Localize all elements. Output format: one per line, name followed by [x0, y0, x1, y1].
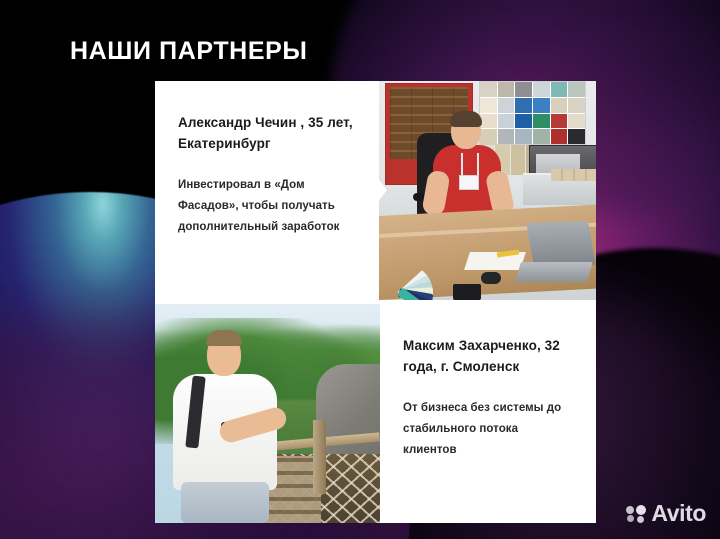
color-swatch: [498, 98, 515, 113]
color-swatch: [515, 114, 532, 129]
color-sample-fan: [379, 262, 451, 300]
color-swatch: [515, 82, 532, 97]
color-swatch: [551, 82, 568, 97]
avito-logo-icon: [626, 505, 646, 523]
color-swatch: [533, 129, 550, 144]
partner-1-description: Инвестировал в «Дом Фасадов», чтобы полу…: [178, 175, 357, 239]
slide-canvas: НАШИ ПАРТНЕРЫ Александр Чечин , 35 лет, …: [0, 0, 720, 539]
avito-watermark: Avito: [626, 502, 706, 525]
person-pants: [181, 482, 269, 523]
color-swatch: [515, 98, 532, 113]
color-swatch: [551, 114, 568, 129]
desk-mouse: [481, 272, 501, 284]
color-swatch: [551, 98, 568, 113]
color-swatch: [533, 98, 550, 113]
partners-card: Александр Чечин , 35 лет, Екатеринбург И…: [155, 81, 596, 523]
laptop-screen: [526, 221, 595, 267]
partner-2-name: Максим Захарченко, 32 года, г. Смоленск: [403, 336, 574, 378]
partner-entry-2: Максим Захарченко, 32 года, г. Смоленск …: [155, 304, 596, 523]
person-standing: [169, 330, 281, 523]
person-hair: [450, 111, 482, 127]
color-swatch: [533, 82, 550, 97]
partner-2-photo: [155, 304, 380, 523]
outdoor-railing-post: [313, 420, 326, 494]
sample-boxes: [551, 169, 596, 181]
avito-label: Avito: [651, 502, 706, 525]
color-swatch: [568, 129, 585, 144]
color-swatch: [551, 129, 568, 144]
color-swatch: [511, 145, 526, 175]
person-hair: [206, 330, 242, 346]
color-swatch: [533, 114, 550, 129]
partner-entry-1: Александр Чечин , 35 лет, Екатеринбург И…: [155, 81, 596, 300]
page-title: НАШИ ПАРТНЕРЫ: [70, 38, 307, 66]
color-swatch: [568, 82, 585, 97]
color-swatch: [515, 129, 532, 144]
color-swatch: [498, 82, 515, 97]
person-badge: [459, 175, 479, 190]
color-swatch: [480, 82, 497, 97]
partner-1-photo: [379, 81, 596, 300]
partner-2-description: От бизнеса без системы до стабильного по…: [403, 398, 574, 462]
color-swatch: [480, 98, 497, 113]
color-swatch: [568, 114, 585, 129]
partner-1-text-pane: Александр Чечин , 35 лет, Екатеринбург И…: [155, 81, 379, 300]
partner-1-name: Александр Чечин , 35 лет, Екатеринбург: [178, 113, 357, 155]
desk-measuring-device: [453, 284, 481, 300]
color-swatch: [568, 98, 585, 113]
laptop-base: [515, 262, 593, 282]
partner-2-text-pane: Максим Захарченко, 32 года, г. Смоленск …: [380, 304, 596, 523]
person-lanyard: [461, 153, 479, 177]
panel-tag: [406, 94, 434, 105]
